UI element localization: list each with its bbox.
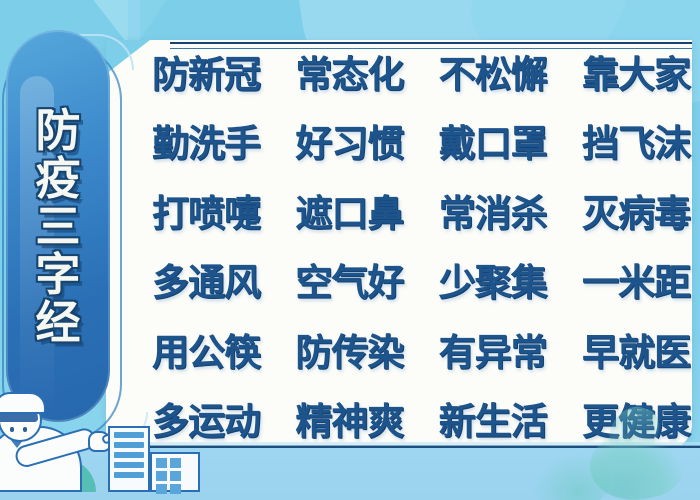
vertical-title-char-2: 疫 <box>35 156 80 202</box>
doctor-illustration <box>0 372 112 492</box>
slogan-phrase: 戴口罩 <box>439 125 547 162</box>
building-tall-icon <box>108 426 150 492</box>
slogan-phrase: 一米距 <box>582 264 690 301</box>
building-window <box>170 458 181 468</box>
slogan-phrase: 空气好 <box>295 264 403 301</box>
slogan-phrase: 多通风 <box>152 264 260 301</box>
vertical-title-char-4: 字 <box>35 252 80 298</box>
slogan-phrase: 防新冠 <box>152 56 260 93</box>
building-wide-icon <box>150 452 200 492</box>
slogan-phrase: 挡飞沫 <box>582 125 690 162</box>
building-window-row <box>114 432 144 438</box>
building-window <box>156 484 167 494</box>
slogan-phrase: 好习惯 <box>295 125 403 162</box>
building-window-row <box>114 462 144 468</box>
slogan-grid: 防新冠 常态化 不松懈 靠大家 勤洗手 好习惯 戴口罩 挡飞沫 打喷嚏 遮口鼻 … <box>152 56 690 440</box>
building-window <box>156 458 167 468</box>
vertical-title-char-5: 经 <box>35 300 80 346</box>
building-window-row <box>114 472 144 478</box>
slogan-row: 多通风 空气好 少聚集 一米距 <box>152 264 690 301</box>
slogan-phrase: 勤洗手 <box>152 125 260 162</box>
slogan-row: 勤洗手 好习惯 戴口罩 挡飞沫 <box>152 125 690 162</box>
slogan-row: 用公筷 防传染 有异常 早就医 <box>152 334 690 371</box>
slogan-phrase: 打喷嚏 <box>152 195 260 232</box>
slogan-phrase: 遮口鼻 <box>295 195 403 232</box>
doctor-cap <box>0 392 46 414</box>
poster-canvas: 防 疫 三 字 经 防新冠 常态化 不松懈 靠大家 勤洗手 好习惯 戴口罩 挡飞… <box>0 0 700 500</box>
slogan-phrase: 少聚集 <box>439 264 547 301</box>
doctor-eye-left <box>10 427 14 432</box>
vertical-title-char-3: 三 <box>35 204 80 250</box>
slogan-phrase: 多运动 <box>152 403 260 440</box>
slogan-phrase: 防传染 <box>295 334 403 371</box>
building-window-row <box>114 452 144 458</box>
slogan-row: 打喷嚏 遮口鼻 常消杀 灭病毒 <box>152 195 690 232</box>
slogan-phrase: 精神爽 <box>295 403 403 440</box>
vertical-title-char-1: 防 <box>35 108 80 154</box>
card-top-divider-secondary <box>170 48 692 49</box>
slogan-phrase: 新生活 <box>439 403 547 440</box>
building-window <box>170 471 181 481</box>
building-window-row <box>114 442 144 448</box>
slogan-phrase: 靠大家 <box>582 56 690 93</box>
building-window <box>156 471 167 481</box>
slogan-phrase: 灭病毒 <box>582 195 690 232</box>
slogan-phrase: 不松懈 <box>439 56 547 93</box>
slogan-phrase: 早就医 <box>582 334 690 371</box>
building-window <box>170 484 181 494</box>
slogan-row: 防新冠 常态化 不松懈 靠大家 <box>152 56 690 93</box>
slogan-phrase: 常消杀 <box>439 195 547 232</box>
vertical-title: 防 疫 三 字 经 <box>6 52 110 402</box>
card-top-divider <box>170 42 692 44</box>
slogan-phrase: 常态化 <box>295 56 403 93</box>
doctor-eye-right <box>23 427 27 432</box>
slogan-phrase: 有异常 <box>439 334 547 371</box>
slogan-phrase: 用公筷 <box>152 334 260 371</box>
